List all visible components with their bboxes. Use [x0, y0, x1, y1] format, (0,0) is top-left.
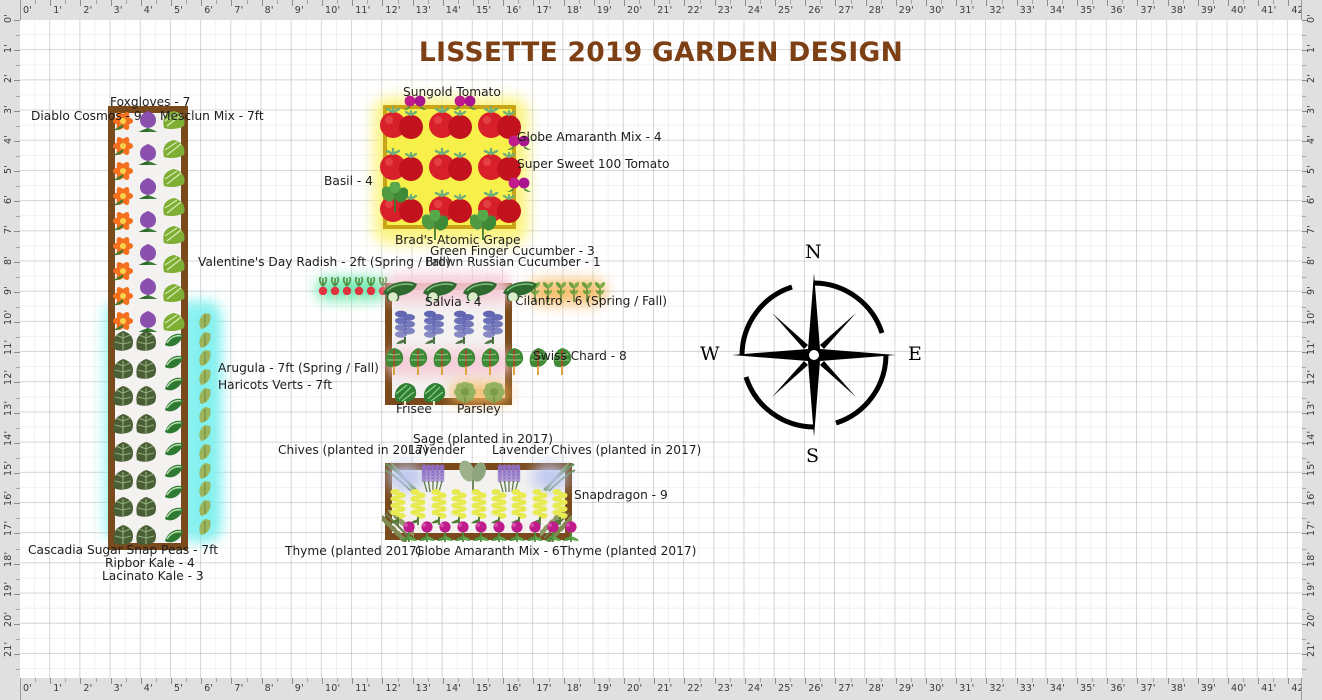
ruler-tick-half: [1302, 35, 1306, 36]
ruler-label: 33': [1020, 5, 1035, 16]
globe-amaranth-icon: [508, 521, 526, 543]
ruler-label: 22': [687, 683, 702, 694]
ruler-tick: [201, 0, 202, 6]
ruler-label: 5': [174, 683, 183, 694]
salvia-icon: [481, 309, 505, 345]
ruler-label: 6': [204, 5, 213, 16]
pea-pod-icon: [162, 330, 186, 350]
arugula-leaf-icon: [196, 406, 214, 424]
kale-icon: [133, 496, 159, 518]
tomato-plant-icon: [379, 105, 425, 145]
label-arugula: Arugula - 7ft (Spring / Fall): [218, 362, 379, 374]
ruler-tick-half: [1302, 307, 1306, 308]
ruler-label: 10': [1306, 310, 1317, 325]
ruler-tick-half: [1302, 458, 1306, 459]
ruler-label: 16': [506, 5, 521, 16]
basil-icon: [382, 182, 408, 212]
ruler-tick-half: [186, 678, 187, 682]
globe-amaranth-icon: [490, 521, 508, 543]
ruler-label: 7': [234, 683, 243, 694]
ruler-label: 39': [1201, 5, 1216, 16]
pea-pod-icon: [162, 504, 186, 524]
ruler-tick: [805, 0, 806, 6]
foxglove-icon: [135, 243, 161, 265]
label-brown-russian-cucumber: Brown Russian Cucumber - 1: [425, 256, 601, 268]
ruler-label: 28': [869, 683, 884, 694]
ruler-label: 15': [476, 5, 491, 16]
label-diablo-cosmos: Diablo Cosmos - 9: [31, 110, 142, 122]
ruler-tick: [624, 0, 625, 6]
ruler-tick-half: [1302, 609, 1306, 610]
ruler-tick: [382, 0, 383, 6]
ruler-top[interactable]: 0'1'2'3'4'5'6'7'8'9'10'11'12'13'14'15'16…: [0, 0, 1322, 21]
foxglove-icon: [135, 143, 161, 165]
ruler-tick-half: [971, 678, 972, 682]
pea-pod-icon: [162, 374, 186, 394]
ruler-label: 30': [929, 683, 944, 694]
ruler-label: 35': [1080, 5, 1095, 16]
kale-icon: [133, 413, 159, 435]
arugula-leaf-icon: [196, 499, 214, 517]
ruler-tick-half: [1062, 0, 1063, 4]
label-super-sweet-100-tomato: Super Sweet 100 Tomato: [517, 158, 669, 170]
ruler-tick: [533, 0, 534, 6]
ruler-tick-half: [700, 0, 701, 4]
ruler-label: 17': [3, 521, 14, 536]
ruler-label: 8': [3, 256, 14, 265]
ruler-label: 24': [748, 683, 763, 694]
ruler-label: 12': [385, 5, 400, 16]
ruler-label: 8': [265, 683, 274, 694]
ruler-tick-half: [247, 0, 248, 4]
ruler-tick-half: [1302, 398, 1306, 399]
ruler-tick-half: [1122, 678, 1123, 682]
ruler-tick-half: [1092, 0, 1093, 4]
ruler-label: 11': [1306, 340, 1317, 355]
ruler-tick: [1228, 678, 1229, 684]
ruler-tick: [503, 0, 504, 6]
ruler-label: 32': [989, 683, 1004, 694]
ruler-tick: [1168, 678, 1169, 684]
ruler-tick: [322, 678, 323, 684]
swiss-chard-icon: [406, 347, 430, 377]
globe-amaranth-icon: [526, 521, 544, 543]
swiss-chard-icon: [454, 347, 478, 377]
salvia-icon: [393, 309, 417, 345]
kale-icon: [133, 330, 159, 352]
ruler-label: 2': [3, 74, 14, 83]
cosmos-flower-icon: [111, 260, 135, 282]
ruler-label: 31': [959, 683, 974, 694]
ruler-label: 27': [838, 683, 853, 694]
ruler-tick: [292, 0, 293, 6]
ruler-tick-half: [669, 0, 670, 4]
label-chives-right: Chives (planted in 2017): [551, 444, 701, 456]
ruler-tick-half: [1302, 247, 1306, 248]
arugula-leaf-icon: [196, 387, 214, 405]
label-chives-left: Chives (planted in 2017): [278, 444, 428, 456]
ruler-tick: [926, 678, 927, 684]
label-basil: Basil - 4: [324, 175, 373, 187]
label-sungold-tomato: Sungold Tomato: [403, 86, 501, 98]
ruler-tick-half: [549, 678, 550, 682]
ruler-label: 18': [1306, 551, 1317, 566]
ruler-label: 22': [687, 5, 702, 16]
label-haricots-verts: Haricots Verts - 7ft: [218, 379, 332, 391]
ruler-label: 10': [325, 683, 340, 694]
ruler-label: 10': [325, 5, 340, 16]
globe-amaranth-icon: [436, 521, 454, 543]
cucumber-icon: [380, 277, 420, 301]
ruler-label: 3': [114, 5, 123, 16]
label-parsley: Parsley: [457, 403, 501, 415]
ruler-tick-half: [1122, 0, 1123, 4]
compass-rose: N E S W: [724, 265, 904, 445]
ruler-label: 4': [144, 5, 153, 16]
foxglove-icon: [135, 277, 161, 299]
ruler-tick: [50, 678, 51, 684]
ruler-label: 32': [989, 5, 1004, 16]
ruler-label: 1': [53, 683, 62, 694]
ruler-tick-half: [1032, 678, 1033, 682]
ruler-label: 7': [1306, 225, 1317, 234]
globe-amaranth-row[interactable]: [400, 520, 558, 544]
ruler-tick-half: [1302, 518, 1306, 519]
ruler-label: 29': [899, 5, 914, 16]
ruler-tick-half: [1032, 0, 1033, 4]
arugula-leaf-icon: [196, 518, 214, 536]
ruler-tick-half: [126, 0, 127, 4]
ruler-tick-half: [1273, 0, 1274, 4]
ruler-tick: [986, 0, 987, 6]
ruler-label: 4': [144, 683, 153, 694]
ruler-tick-half: [790, 678, 791, 682]
kale-icon: [133, 469, 159, 491]
ruler-label: 16': [3, 491, 14, 506]
ruler-tick-half: [458, 678, 459, 682]
parsley-icon: [481, 382, 507, 404]
radish-icon: [329, 277, 341, 301]
label-ripbor-kale: Ripbor Kale - 4: [105, 557, 195, 569]
ruler-tick: [1077, 0, 1078, 6]
ruler-tick: [1288, 0, 1289, 6]
ruler-tick-half: [1302, 216, 1306, 217]
ruler-tick-half: [941, 678, 942, 682]
ruler-tick: [594, 0, 595, 6]
radish-icon: [317, 277, 329, 301]
ruler-label: 11': [355, 683, 370, 694]
ruler-tick-half: [911, 678, 912, 682]
ruler-tick: [322, 0, 323, 6]
ruler-tick-half: [65, 678, 66, 682]
ruler-label: 31': [959, 5, 974, 16]
tomato-row-top[interactable]: [378, 104, 524, 146]
ruler-label: 6': [3, 195, 14, 204]
ruler-tick-half: [881, 0, 882, 4]
ruler-label: 27': [838, 5, 853, 16]
ruler-tick: [745, 0, 746, 6]
ruler-label: 28': [869, 5, 884, 16]
ruler-tick-half: [156, 678, 157, 682]
ruler-tick-half: [971, 0, 972, 4]
ruler-label: 4': [1306, 135, 1317, 144]
cosmos-flower-icon: [111, 235, 135, 257]
ruler-label: 1': [53, 5, 62, 16]
pea-pod-icon: [162, 482, 186, 502]
ruler-label: 4': [3, 135, 14, 144]
arugula-leaf-icon: [196, 349, 214, 367]
ruler-tick-half: [518, 0, 519, 4]
label-mesclun-mix: Mesclun Mix - 7ft: [160, 110, 264, 122]
arugula-leaf-icon: [196, 368, 214, 386]
ruler-label: 37': [1140, 683, 1155, 694]
kale-icon: [133, 441, 159, 463]
ruler-label: 3': [1306, 105, 1317, 114]
ruler-label: 3': [114, 683, 123, 694]
ruler-tick-half: [337, 678, 338, 682]
ruler-tick-half: [428, 0, 429, 4]
ruler-tick: [473, 678, 474, 684]
ruler-label: 1': [3, 44, 14, 53]
ruler-tick-half: [639, 0, 640, 4]
ruler-tick-half: [760, 0, 761, 4]
ruler-label: 18': [567, 5, 582, 16]
ruler-label: 8': [1306, 256, 1317, 265]
ruler-tick-half: [1002, 678, 1003, 682]
label-foxgloves: Foxgloves - 7: [110, 96, 190, 108]
ruler-tick-half: [488, 0, 489, 4]
ruler-tick-half: [579, 678, 580, 682]
ruler-tick-half: [1302, 277, 1306, 278]
ruler-label: 36': [1110, 5, 1125, 16]
cosmos-flower-icon: [111, 160, 135, 182]
ruler-tick-half: [1213, 0, 1214, 4]
ruler-label: 23': [718, 5, 733, 16]
ruler-label: 9': [295, 5, 304, 16]
ruler-label: 21': [3, 642, 14, 657]
mesclun-leaf-icon: [161, 312, 187, 332]
ruler-label: 9': [295, 683, 304, 694]
ruler-label: 10': [3, 310, 14, 325]
ruler-tick: [201, 678, 202, 684]
ruler-right[interactable]: 0'1'2'3'4'5'6'7'8'9'10'11'12'13'14'15'16…: [1301, 0, 1322, 700]
compass-rose-icon: [724, 265, 904, 445]
ruler-label: 19': [3, 581, 14, 596]
ruler-tick-half: [760, 678, 761, 682]
ruler-tick: [1107, 0, 1108, 6]
foxgloves-column[interactable]: [134, 110, 162, 332]
ruler-tick-half: [1273, 678, 1274, 682]
ruler-label: 30': [929, 5, 944, 16]
ruler-label: 41': [1261, 683, 1276, 694]
ruler-left[interactable]: 0'1'2'3'4'5'6'7'8'9'10'11'12'13'14'15'16…: [0, 0, 21, 700]
compass-label-south: S: [806, 445, 819, 467]
radish-icon: [341, 277, 353, 301]
globe-amaranth-icon: [400, 521, 418, 543]
ruler-tick-half: [398, 0, 399, 4]
ruler-tick-half: [1302, 579, 1306, 580]
ruler-tick-half: [549, 0, 550, 4]
cosmos-flower-icon: [111, 135, 135, 157]
ruler-tick: [473, 0, 474, 6]
ruler-label: 26': [808, 5, 823, 16]
ruler-label: 23': [718, 683, 733, 694]
swiss-chard-icon: [430, 347, 454, 377]
ruler-label: 17': [536, 683, 551, 694]
ruler-label: 13': [416, 5, 431, 16]
ruler-label: 37': [1140, 5, 1155, 16]
ruler-label: 13': [416, 683, 431, 694]
ruler-tick: [835, 678, 836, 684]
ruler-label: 13': [1306, 400, 1317, 415]
cascadia-sugar-snap-peas-column[interactable]: [160, 330, 188, 546]
mesclun-leaf-icon: [161, 225, 187, 245]
parsley-icon: [452, 382, 478, 404]
ruler-tick: [1017, 678, 1018, 684]
ruler-tick-half: [96, 678, 97, 682]
mesclun-mix-column[interactable]: [160, 110, 188, 332]
ruler-tick-half: [65, 0, 66, 4]
ruler-bottom[interactable]: 0'1'2'3'4'5'6'7'8'9'10'11'12'13'14'15'16…: [0, 677, 1322, 700]
ruler-tick: [171, 678, 172, 684]
ruler-tick-half: [820, 0, 821, 4]
ruler-tick: [1228, 0, 1229, 6]
ruler-label: 7': [234, 5, 243, 16]
swiss-chard-row[interactable]: [382, 345, 518, 379]
design-canvas[interactable]: LISSETTE 2019 GARDEN DESIGN: [20, 20, 1302, 678]
ruler-tick-half: [579, 0, 580, 4]
ruler-tick: [926, 0, 927, 6]
swiss-chard-icon: [502, 347, 526, 377]
arugula-leaf-icon: [196, 424, 214, 442]
ruler-tick: [684, 678, 685, 684]
ruler-label: 7': [3, 225, 14, 234]
cosmos-flower-icon: [111, 210, 135, 232]
mesclun-leaf-icon: [161, 283, 187, 303]
salvia-icon: [422, 309, 446, 345]
ruler-tick: [1047, 678, 1048, 684]
label-globe-amaranth-mix-4: Globe Amaranth Mix - 4: [517, 131, 662, 143]
ruler-tick: [866, 0, 867, 6]
ruler-tick: [1107, 678, 1108, 684]
ruler-tick-half: [1302, 367, 1306, 368]
ruler-tick-half: [488, 678, 489, 682]
label-globe-amaranth-mix-6: Globe Amaranth Mix - 6: [415, 545, 560, 557]
ruler-tick: [896, 678, 897, 684]
ruler-tick-half: [1302, 669, 1306, 670]
ruler-label: 11': [355, 5, 370, 16]
ruler-tick-half: [1302, 186, 1306, 187]
globe-amaranth-icon: [544, 521, 562, 543]
mesclun-leaf-icon: [161, 139, 187, 159]
ruler-tick-half: [1153, 678, 1154, 682]
ruler-tick-half: [216, 0, 217, 4]
ruler-label: 25': [778, 5, 793, 16]
ruler-label: 6': [204, 683, 213, 694]
ruler-label: 0': [3, 14, 14, 23]
mesclun-leaf-icon: [161, 197, 187, 217]
ruler-label: 1': [1306, 44, 1317, 53]
ruler-tick: [654, 0, 655, 6]
ruler-tick: [80, 678, 81, 684]
ruler-tick-half: [1213, 678, 1214, 682]
ruler-label: 40': [1231, 5, 1246, 16]
ruler-tick: [835, 0, 836, 6]
ruler-tick-half: [35, 0, 36, 4]
compass-label-east: E: [908, 343, 922, 365]
ruler-tick-half: [669, 678, 670, 682]
ruler-tick: [1137, 0, 1138, 6]
ruler-tick: [745, 678, 746, 684]
page-title: LISSETTE 2019 GARDEN DESIGN: [20, 37, 1302, 68]
ruler-tick: [503, 678, 504, 684]
ruler-tick: [564, 678, 565, 684]
diablo-cosmos-column[interactable]: [110, 110, 136, 332]
ruler-label: 34': [1050, 5, 1065, 16]
ruler-tick: [805, 678, 806, 684]
ruler-tick: [1198, 0, 1199, 6]
ruler-tick: [262, 0, 263, 6]
ruler-tick-half: [156, 0, 157, 4]
tomato-row-bottom[interactable]: [378, 188, 524, 230]
ruler-tick-half: [96, 0, 97, 4]
ruler-tick: [533, 678, 534, 684]
ruler-tick-half: [1302, 156, 1306, 157]
ruler-tick-half: [1302, 337, 1306, 338]
ruler-tick: [775, 0, 776, 6]
ruler-tick: [292, 678, 293, 684]
ruler-tick-half: [398, 678, 399, 682]
ruler-label: 29': [899, 683, 914, 694]
ruler-tick: [715, 678, 716, 684]
ruler-tick: [1168, 0, 1169, 6]
tomato-plant-icon: [428, 105, 474, 145]
ruler-tick: [715, 0, 716, 6]
ruler-tick: [986, 678, 987, 684]
ruler-tick-half: [307, 678, 308, 682]
foxglove-icon: [135, 210, 161, 232]
arugula-leaf-icon: [196, 331, 214, 349]
salvia-row[interactable]: [390, 308, 508, 346]
haricots-verts-column[interactable]: [196, 312, 214, 536]
ruler-label: 18': [3, 551, 14, 566]
ruler-label: 40': [1231, 683, 1246, 694]
ruler-label: 35': [1080, 683, 1095, 694]
ruler-tick-half: [367, 0, 368, 4]
ruler-label: 25': [778, 683, 793, 694]
swiss-chard-icon: [478, 347, 502, 377]
ruler-tick-half: [1302, 428, 1306, 429]
valentines-day-radish-row[interactable]: [317, 276, 387, 302]
ruler-label: 12': [3, 370, 14, 385]
ruler-label: 5': [3, 165, 14, 174]
pea-pod-icon: [162, 352, 186, 372]
ruler-tick: [262, 678, 263, 684]
garden-planner-canvas: 0'1'2'3'4'5'6'7'8'9'10'11'12'13'14'15'16…: [0, 0, 1322, 700]
ruler-tick-half: [518, 678, 519, 682]
ruler-tick-half: [881, 678, 882, 682]
ruler-tick: [413, 0, 414, 6]
ruler-tick: [1258, 678, 1259, 684]
ruler-label: 17': [536, 5, 551, 16]
lacinato-kale-column[interactable]: [132, 330, 160, 546]
ruler-tick-half: [1153, 0, 1154, 4]
ruler-label: 14': [446, 683, 461, 694]
ruler-tick: [866, 678, 867, 684]
ruler-tick-half: [307, 0, 308, 4]
ruler-tick: [80, 0, 81, 6]
label-valentines-radish: Valentine's Day Radish - 2ft (Spring / F…: [198, 256, 451, 268]
